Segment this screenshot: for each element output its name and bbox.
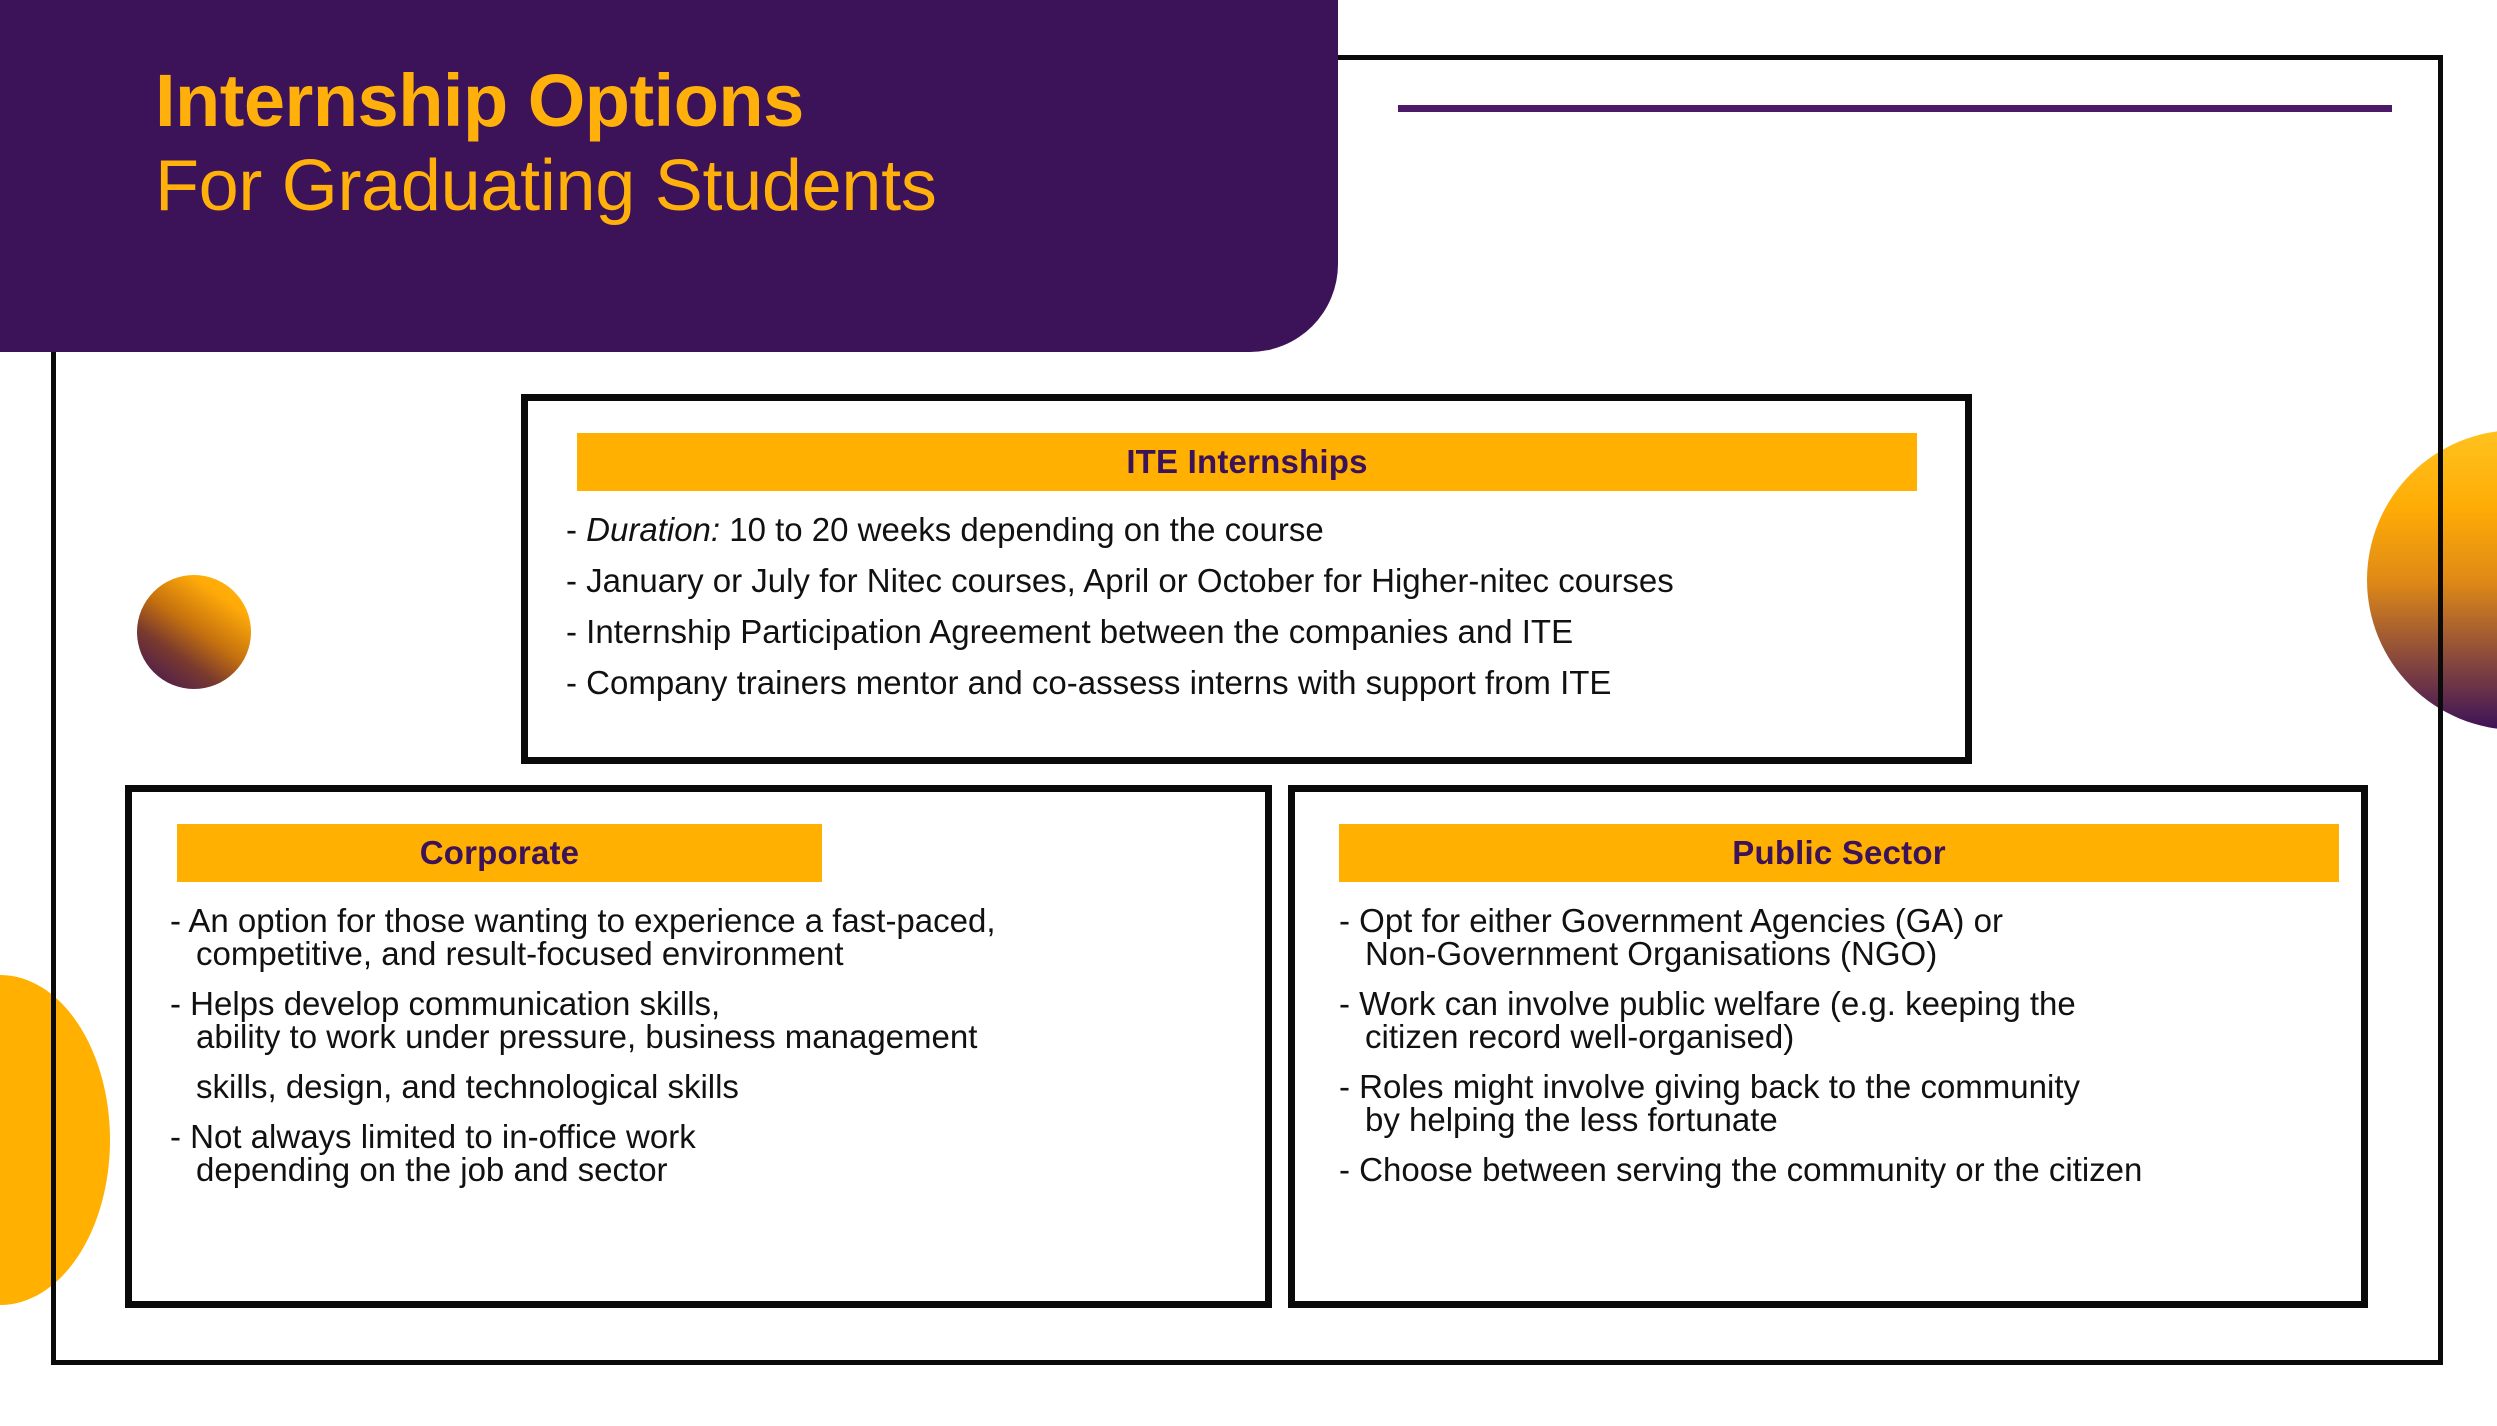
list-item: - Duration: 10 to 20 weeks depending on …	[566, 513, 1943, 546]
page-title: Internship Options For Graduating Studen…	[155, 62, 1295, 226]
bullet-marker: -	[566, 613, 586, 650]
bullet-text-cont: depending on the job and sector	[170, 1153, 1243, 1203]
bullet-marker: -	[566, 511, 586, 548]
bullet-marker: -	[566, 562, 586, 599]
card-body-corporate: - An option for those wanting to experie…	[170, 904, 1243, 1203]
bullet-marker: -	[566, 664, 586, 701]
bullet-text: January or July for Nitec courses, April…	[586, 562, 1674, 599]
list-item: - Opt for either Government Agencies (GA…	[1339, 904, 2339, 987]
header-block: Internship Options For Graduating Studen…	[0, 0, 1338, 352]
title-primary: Internship Options	[155, 62, 1295, 140]
bullet-text: 10 to 20 weeks depending on the course	[720, 511, 1324, 548]
card-header-corporate: Corporate	[177, 824, 822, 882]
bullet-text: - Choose between serving the community o…	[1339, 1151, 2142, 1205]
list-item: - Work can involve public welfare (e.g. …	[1339, 987, 2339, 1070]
card-title-public-sector: Public Sector	[1732, 834, 1946, 872]
title-secondary: For Graduating Students	[155, 146, 1295, 227]
card-corporate: Corporate - An option for those wanting …	[125, 785, 1272, 1308]
bullet-text: Internship Participation Agreement betwe…	[586, 613, 1573, 650]
bullet-text-cont: skills, design, and technological skills	[170, 1070, 1243, 1120]
list-item: - Company trainers mentor and co-assess …	[566, 666, 1943, 699]
list-item: - Choose between serving the community o…	[1339, 1153, 2339, 1186]
card-header-ite: ITE Internships	[577, 433, 1917, 491]
card-body-public-sector: - Opt for either Government Agencies (GA…	[1339, 904, 2339, 1186]
card-header-public-sector: Public Sector	[1339, 824, 2339, 882]
list-item: - Internship Participation Agreement bet…	[566, 615, 1943, 648]
card-title-corporate: Corporate	[420, 834, 580, 872]
list-item: - Not always limited to in-office work d…	[170, 1120, 1243, 1203]
list-item: - Roles might involve giving back to the…	[1339, 1070, 2339, 1153]
card-ite-internships: ITE Internships - Duration: 10 to 20 wee…	[521, 394, 1972, 764]
bullet-text-cont: ability to work under pressure, business…	[170, 1020, 1243, 1070]
bullet-text-cont: competitive, and result-focused environm…	[170, 937, 1243, 987]
card-body-ite: - Duration: 10 to 20 weeks depending on …	[566, 513, 1943, 717]
purple-accent-line	[1398, 105, 2392, 112]
bullet-text: Company trainers mentor and co-assess in…	[586, 664, 1611, 701]
list-item: - An option for those wanting to experie…	[170, 904, 1243, 987]
bullet-emphasis: Duration:	[586, 511, 720, 548]
card-public-sector: Public Sector - Opt for either Governmen…	[1288, 785, 2368, 1308]
slide-canvas: Internship Options For Graduating Studen…	[0, 0, 2497, 1426]
bullet-text-cont: Non-Government Organisations (NGO)	[1339, 937, 2339, 987]
card-title-ite: ITE Internships	[1126, 443, 1367, 481]
list-item: - Helps develop communication skills, ab…	[170, 987, 1243, 1120]
list-item: - January or July for Nitec courses, Apr…	[566, 564, 1943, 597]
